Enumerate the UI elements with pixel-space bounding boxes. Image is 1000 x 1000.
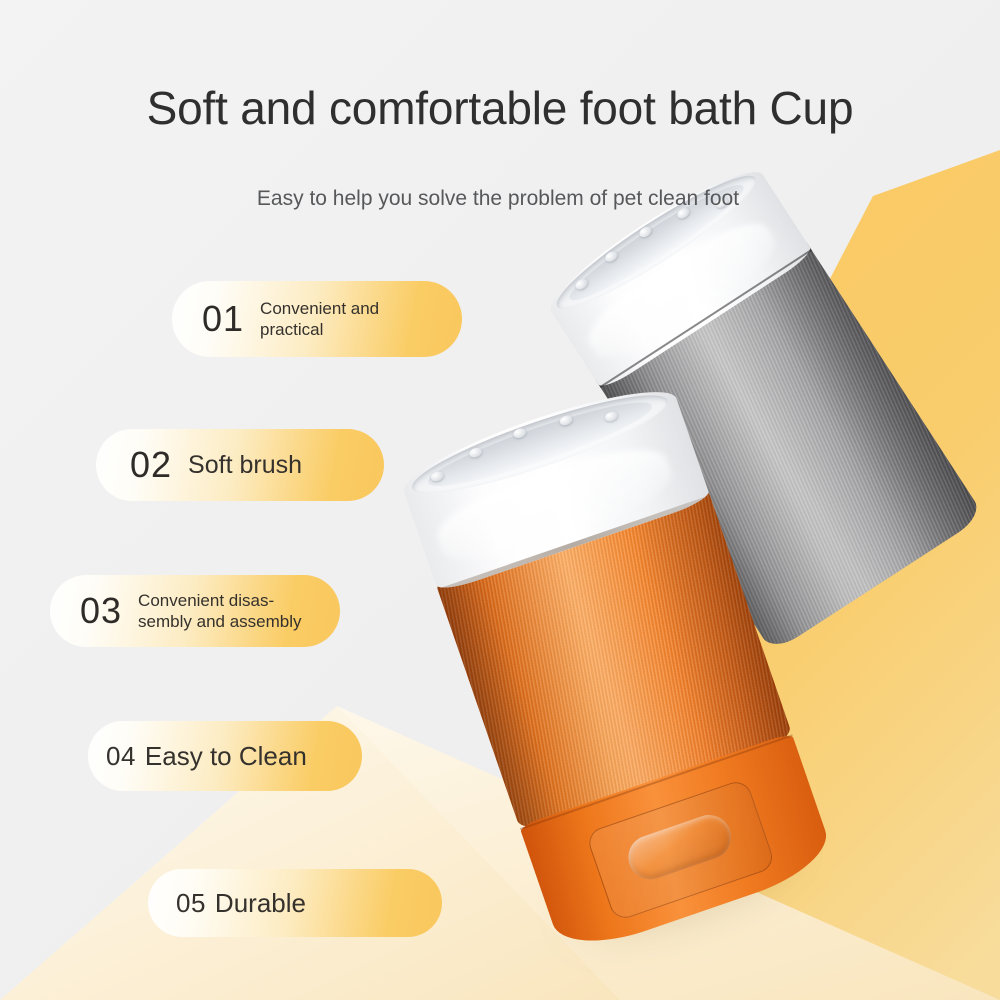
feature-label-line: Convenient and: [260, 299, 379, 318]
feature-number: 03: [80, 593, 122, 629]
feature-label-line: Convenient disas-: [138, 591, 274, 610]
feature-pill-05[interactable]: 05 Durable: [148, 869, 442, 937]
feature-number: 01: [202, 301, 244, 337]
page-subtitle-text: Easy to help you solve the problem of pe…: [257, 187, 739, 210]
feature-number: 04: [106, 743, 136, 769]
feature-pill-01[interactable]: 01 Convenient and practical: [172, 281, 462, 357]
feature-label: Convenient and practical: [260, 298, 379, 340]
feature-label-line: practical: [260, 320, 323, 339]
feature-number: 05: [176, 890, 206, 916]
feature-pill-04[interactable]: 04 Easy to Clean: [88, 721, 362, 791]
feature-label: Easy to Clean: [145, 741, 307, 771]
feature-number: 02: [130, 447, 172, 483]
feature-pill-03[interactable]: 03 Convenient disas- sembly and assembly: [50, 575, 340, 647]
feature-label-line: sembly and assembly: [138, 612, 301, 631]
feature-label: Durable: [215, 888, 306, 918]
feature-pill-02[interactable]: 02 Soft brush: [96, 429, 384, 501]
page-subtitle: Easy to help you solve the problem of pe…: [0, 184, 1000, 214]
feature-label: Convenient disas- sembly and assembly: [138, 590, 301, 632]
feature-label: Soft brush: [188, 455, 302, 476]
product-banner: Soft and comfortable foot bath Cup Easy …: [0, 0, 1000, 1000]
page-title: Soft and comfortable foot bath Cup: [0, 76, 1000, 140]
